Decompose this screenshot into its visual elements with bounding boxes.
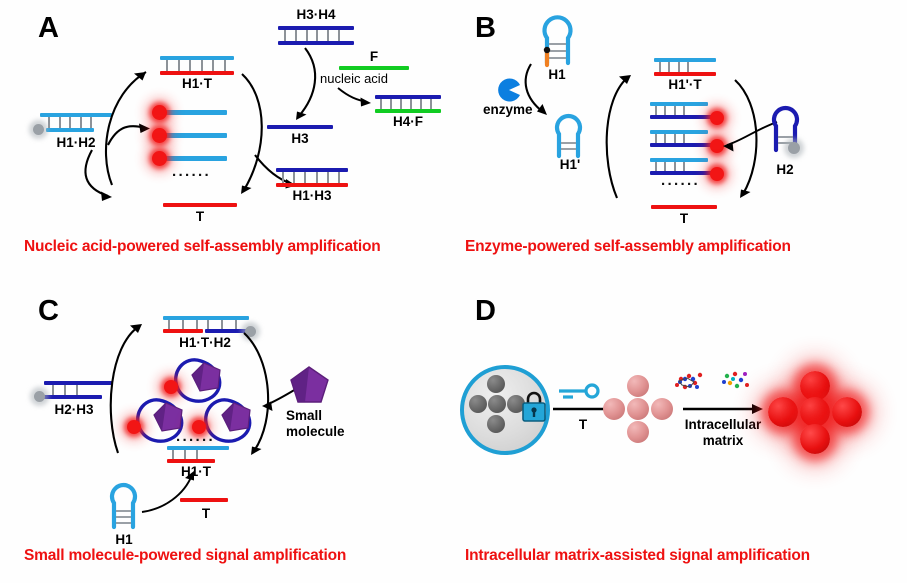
probe-sphere-center (627, 398, 649, 420)
cargo-sphere-1 (487, 375, 505, 393)
cargo-sphere-5 (487, 415, 505, 433)
arrow-h1-to-h1t (0, 285, 455, 583)
label-h1-h3: H1·H3 (292, 189, 331, 204)
probe-sphere-bottom (627, 421, 649, 443)
strand-red (276, 183, 348, 187)
label-matrix-line2: matrix (703, 434, 744, 449)
panel-d-caption: Intracellular matrix-assisted signal amp… (465, 547, 810, 565)
signal-sphere-center (800, 397, 830, 427)
signal-sphere-left (768, 397, 798, 427)
label-t-trigger: T (579, 418, 587, 433)
panel-c-caption: Small molecule-powered signal amplificat… (24, 547, 346, 565)
probe-sphere-left (603, 398, 625, 420)
cargo-sphere-2 (469, 395, 487, 413)
label-t: T (202, 507, 210, 522)
panel-a: A H1·H2 H1·T ······ T (0, 0, 455, 285)
probe-sphere-right (651, 398, 673, 420)
signal-sphere-bottom (800, 424, 830, 454)
panel-b: B H1 enzyme H1' (455, 0, 907, 285)
key-icon (555, 383, 601, 405)
arrow-step2 (683, 403, 765, 417)
label-t: T (680, 212, 688, 227)
panel-c: C H2·H3 H1·T·H2 (0, 285, 455, 583)
panel-b-caption: Enzyme-powered self-assembly amplificati… (465, 238, 791, 256)
intracellular-matrix-icon (667, 367, 777, 401)
lock-icon (519, 390, 549, 424)
strand-red (180, 498, 228, 502)
panel-d-label: D (475, 297, 496, 326)
probe-sphere-top (627, 375, 649, 397)
strand-red (651, 205, 717, 209)
panel-d: D T (455, 285, 907, 583)
label-matrix-line1: Intracellular (685, 418, 762, 433)
signal-sphere-right (832, 397, 862, 427)
cargo-sphere-3 (488, 395, 506, 413)
base-pair-rungs (282, 172, 340, 183)
panel-a-caption: Nucleic acid-powered self-assembly ampli… (24, 238, 381, 256)
